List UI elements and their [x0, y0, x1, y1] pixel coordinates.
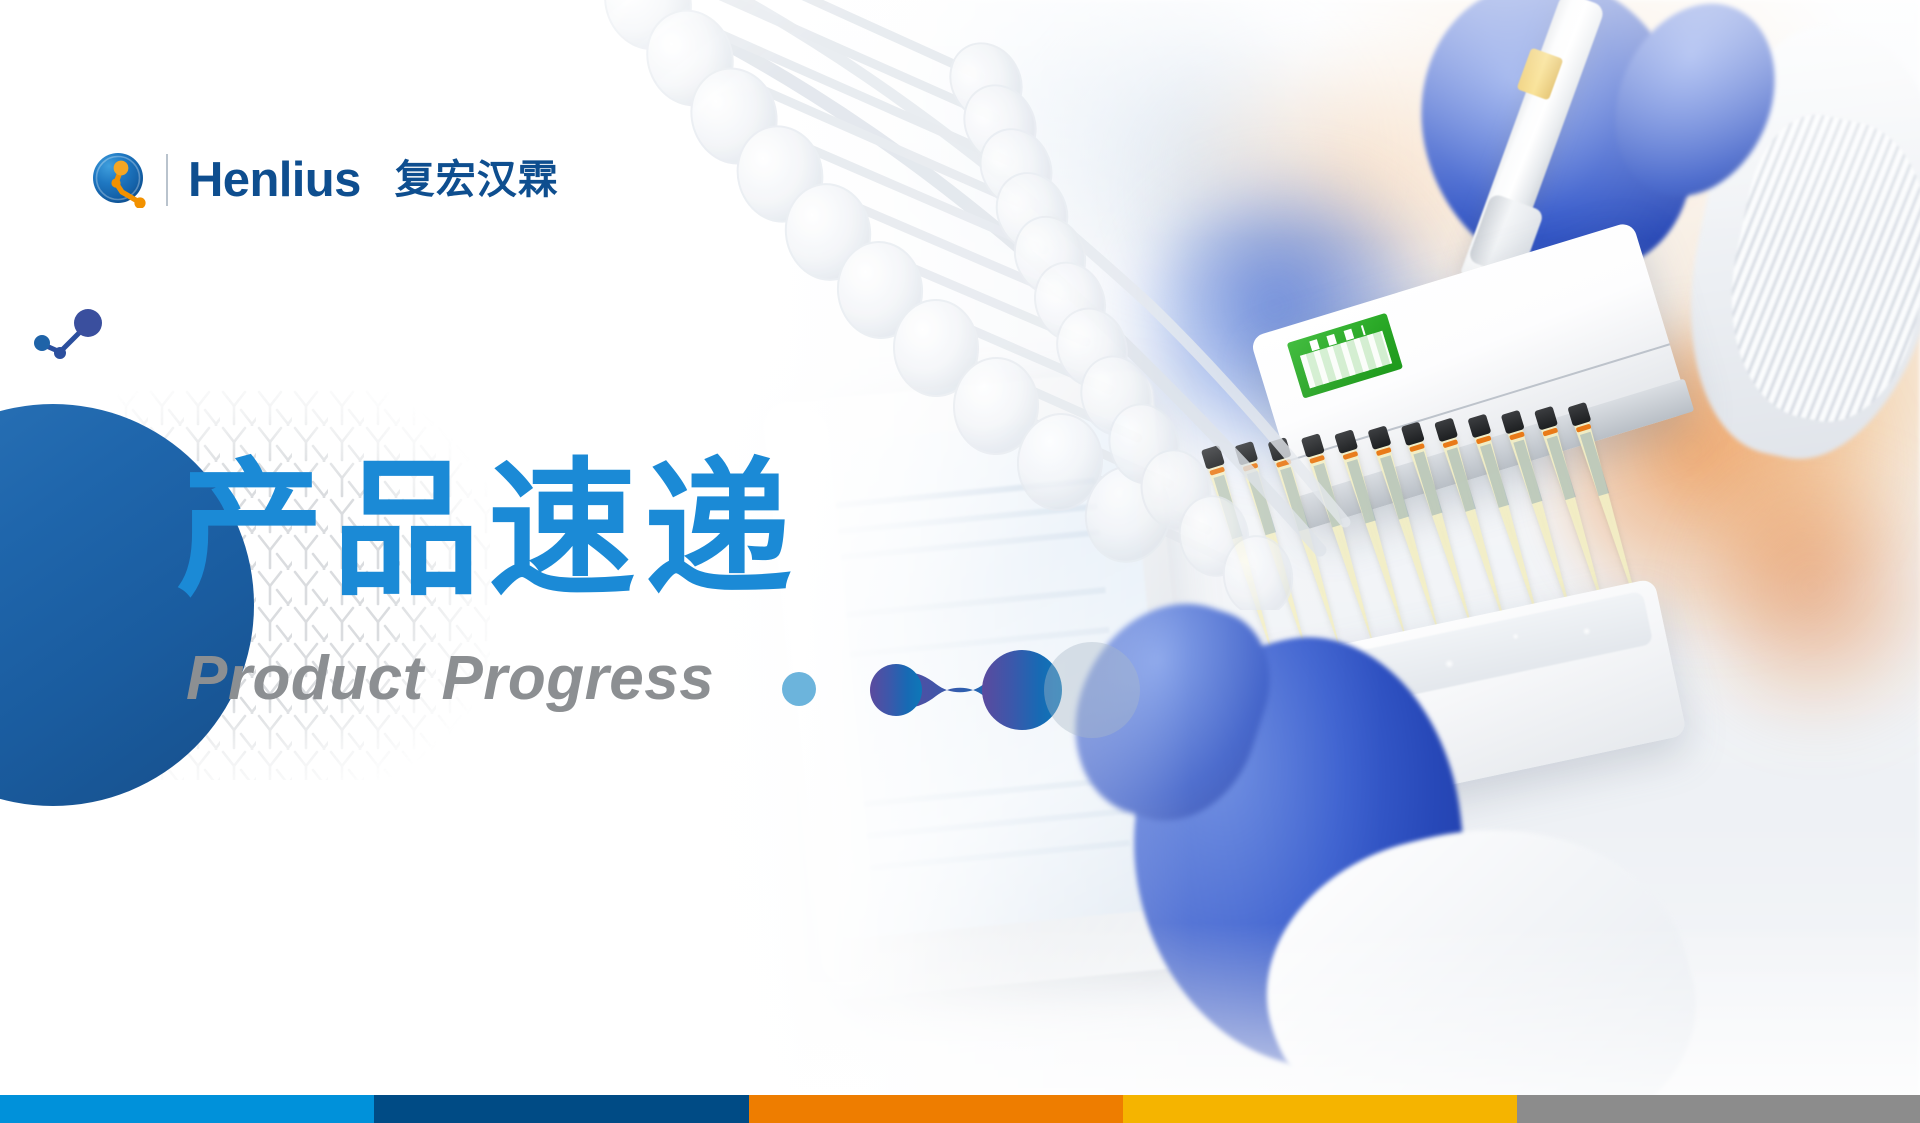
bottom-bar-segment-gray: [1517, 1095, 1920, 1123]
decorative-dot-ghost: [1044, 642, 1140, 738]
decorative-molecule-dumbbell: [858, 640, 1068, 740]
page-subtitle-en: Product Progress: [186, 648, 714, 710]
bottom-bar-segment-light-blue: [0, 1095, 374, 1123]
decorative-dot-small: [782, 672, 816, 706]
henlius-logo-mark-icon: [92, 152, 148, 208]
page-title-cn: 产品速递: [176, 452, 800, 609]
molecule-icon: [30, 308, 106, 364]
bottom-bar-segment-orange: [749, 1095, 1123, 1123]
cover-slide: Henlius 复宏汉霖 产品速递 Product Progress: [0, 0, 1920, 1123]
logo-chinese-name: 复宏汉霖: [395, 160, 559, 200]
logo-divider: [166, 154, 168, 206]
brand-logo-lockup[interactable]: Henlius 复宏汉霖: [92, 152, 559, 208]
photo-bottom-fade: [0, 923, 1920, 1123]
bottom-bar-segment-navy-blue: [374, 1095, 748, 1123]
bottom-bar-segment-amber: [1123, 1095, 1517, 1123]
logo-english-name: Henlius: [188, 156, 361, 205]
bottom-color-bar: [0, 1095, 1920, 1123]
